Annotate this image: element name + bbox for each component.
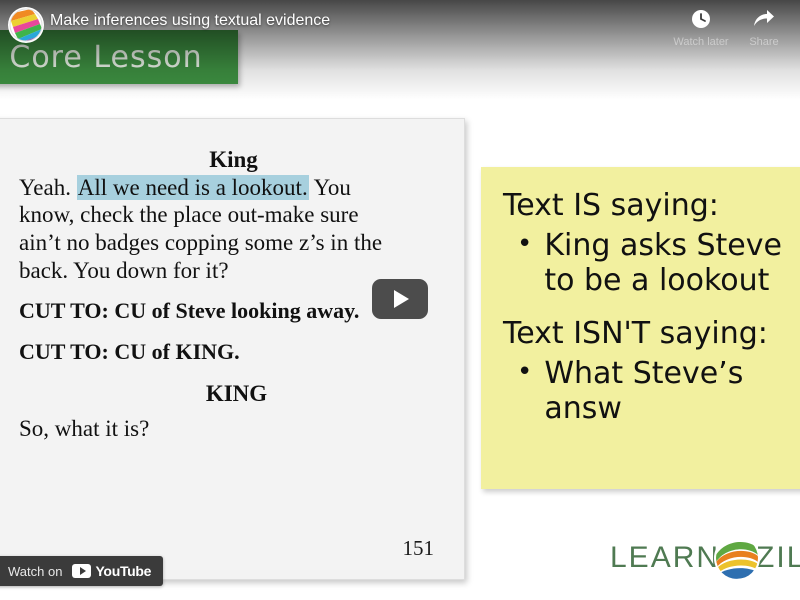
share-label: Share [749,36,778,48]
script-pre-highlight: Yeah. [19,175,77,200]
clock-icon [665,6,737,32]
note-bullet-text-isnt: What Steve’s answ [544,357,743,427]
watch-later-button[interactable]: Watch later [665,6,737,50]
watch-later-label: Watch later [673,36,728,48]
script-highlighted-evidence: All we need is a lookout. [77,175,309,200]
sticky-note-content: Text IS saying: • King asks Steve to be … [503,189,800,427]
note-heading-text-isnt: Text ISN'T saying: [503,317,800,351]
script-post-highlight: You [309,175,351,200]
note-heading-text-is: Text IS saying: [503,189,800,223]
play-triangle-icon [394,290,409,308]
learnzillion-logo-mark-icon [714,535,760,581]
learnzillion-logo-word-left: LEARN [610,541,720,575]
script-speaker-king-1: King [19,147,448,173]
youtube-brand-label: YouTube [95,563,151,579]
youtube-player-stage: Core Lesson King Yeah. All we need is a … [0,0,800,600]
youtube-play-triangle [80,567,86,575]
inline-play-button[interactable] [372,279,428,319]
script-dialogue-line-3: ain’t no badges copping some z’s in the [19,229,448,257]
channel-avatar-icon [9,8,43,42]
script-cut-direction-2: CUT TO: CU of KING. [19,339,448,365]
learnzillion-logo: LEARN ZIL [610,537,800,579]
bullet-dot-icon: • [517,357,532,427]
video-title[interactable]: Make inferences using textual evidence [50,12,330,30]
watch-on-youtube-button[interactable]: Watch on YouTube [0,556,163,586]
script-dialogue-line-5: So, what it is? [19,416,448,442]
note-bullet-item-isnt: • What Steve’s answ [503,357,800,427]
share-button[interactable]: Share [728,6,800,50]
script-page-card: King Yeah. All we need is a lookout. You… [0,118,465,580]
script-dialogue-line-2: know, check the place out-make sure [19,201,448,229]
clock-icon-svg [690,8,712,30]
script-speaker-king-2: KING [19,381,448,407]
core-lesson-banner-label: Core Lesson [9,40,202,75]
logo-swoosh-svg [714,535,760,581]
channel-avatar[interactable] [8,7,44,43]
sticky-note: Text IS saying: • King asks Steve to be … [481,167,800,489]
script-dialogue-line-1: Yeah. All we need is a lookout. You [19,174,448,202]
youtube-play-icon [72,564,91,578]
watch-on-label: Watch on [8,564,62,579]
slide-canvas: Core Lesson King Yeah. All we need is a … [0,0,800,600]
share-arrow-icon [728,6,800,32]
note-bullet-text-is: King asks Steve to be a lookout [544,229,782,299]
share-arrow-icon-svg [752,8,776,30]
bullet-dot-icon: • [517,229,532,299]
note-bullet-item-is: • King asks Steve to be a lookout [503,229,800,299]
script-page-number: 151 [403,536,435,561]
learnzillion-logo-word-right: ZIL [756,541,800,575]
